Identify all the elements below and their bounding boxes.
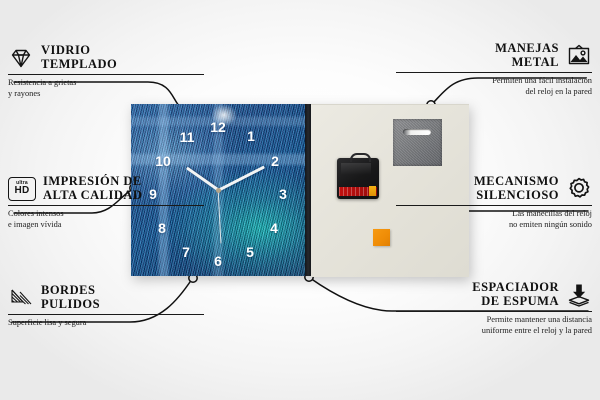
callout-title: VIDRIO TEMPLADO: [41, 44, 117, 71]
clock-numeral: 11: [178, 130, 196, 144]
clock-numeral: 3: [274, 187, 292, 201]
callout-header: MANEJAS METAL: [396, 42, 592, 69]
ultra-hd-icon-main-label: HD: [14, 186, 29, 196]
callout-description: Colores intensos e imagen vívida: [8, 209, 204, 230]
callout-divider: [396, 72, 592, 73]
mechanism-highlight: [341, 163, 371, 175]
callout-divider: [396, 311, 592, 312]
infographic-canvas: 12 1 2 3 4 5 6 7 8 9 10 11: [0, 0, 600, 400]
diamond-icon: [8, 45, 34, 71]
callout-divider: [8, 74, 204, 75]
clock-numeral: 2: [266, 154, 284, 168]
callout-header: MECANISMO SILENCIOSO: [396, 175, 592, 202]
callout-header: ESPACIADOR DE ESPUMA: [396, 281, 592, 308]
clock-numeral: 4: [265, 221, 283, 235]
callout-title: ESPACIADOR DE ESPUMA: [472, 281, 559, 308]
clock-numeral: 1: [242, 129, 260, 143]
callout-description: Permiten una fácil instalación del reloj…: [396, 76, 592, 97]
callout-title: MECANISMO SILENCIOSO: [474, 175, 559, 202]
clock-numeral: 7: [177, 245, 195, 259]
callout-description: Superficie lisa y segura: [8, 318, 204, 329]
mechanism-badge: [369, 186, 376, 196]
callout-vidrio-templado: VIDRIO TEMPLADO Resistencia a grietas y …: [8, 44, 204, 99]
mechanism-handle: [350, 153, 371, 162]
hanger-slot: [403, 129, 431, 135]
callout-impresion-alta-calidad: ultra HD IMPRESIÓN DE ALTA CALIDAD Color…: [8, 175, 204, 230]
clock-numeral: 12: [209, 120, 227, 134]
callout-divider: [8, 314, 204, 315]
callout-header: ultra HD IMPRESIÓN DE ALTA CALIDAD: [8, 175, 204, 202]
clock-numeral: 5: [241, 245, 259, 259]
metal-hanger-plate: [393, 119, 442, 166]
callout-description: Resistencia a grietas y rayones: [8, 78, 204, 99]
callout-header: VIDRIO TEMPLADO: [8, 44, 204, 71]
callout-title: MANEJAS METAL: [495, 42, 559, 69]
callout-mecanismo-silencioso: MECANISMO SILENCIOSO Las manecillas del …: [396, 175, 592, 230]
picture-hanger-icon: [566, 43, 592, 69]
foam-spacer-icon: [566, 282, 592, 308]
callout-title: BORDES PULIDOS: [41, 284, 100, 311]
clock-numeral: 6: [209, 254, 227, 268]
foam-spacer-part: [373, 229, 390, 246]
callout-header: BORDES PULIDOS: [8, 284, 204, 311]
callout-description: Las manecillas del reloj no emiten ningú…: [396, 209, 592, 230]
callout-title: IMPRESIÓN DE ALTA CALIDAD: [43, 175, 142, 202]
clock-mechanism: [337, 158, 379, 199]
callout-espaciador-espuma: ESPACIADOR DE ESPUMA Permite mantener un…: [396, 281, 592, 336]
ultra-hd-icon: ultra HD: [8, 177, 36, 201]
callout-manejas-metal: MANEJAS METAL Permiten una fácil instala…: [396, 42, 592, 97]
callout-divider: [396, 205, 592, 206]
callout-divider: [8, 205, 204, 206]
polished-edges-icon: [8, 285, 34, 311]
callout-bordes-pulidos: BORDES PULIDOS Superficie lisa y segura: [8, 284, 204, 329]
clock-center-hub: [216, 188, 221, 193]
gear-icon: [566, 176, 592, 202]
clock-numeral: 10: [154, 154, 172, 168]
callout-description: Permite mantener una distancia uniforme …: [396, 315, 592, 336]
